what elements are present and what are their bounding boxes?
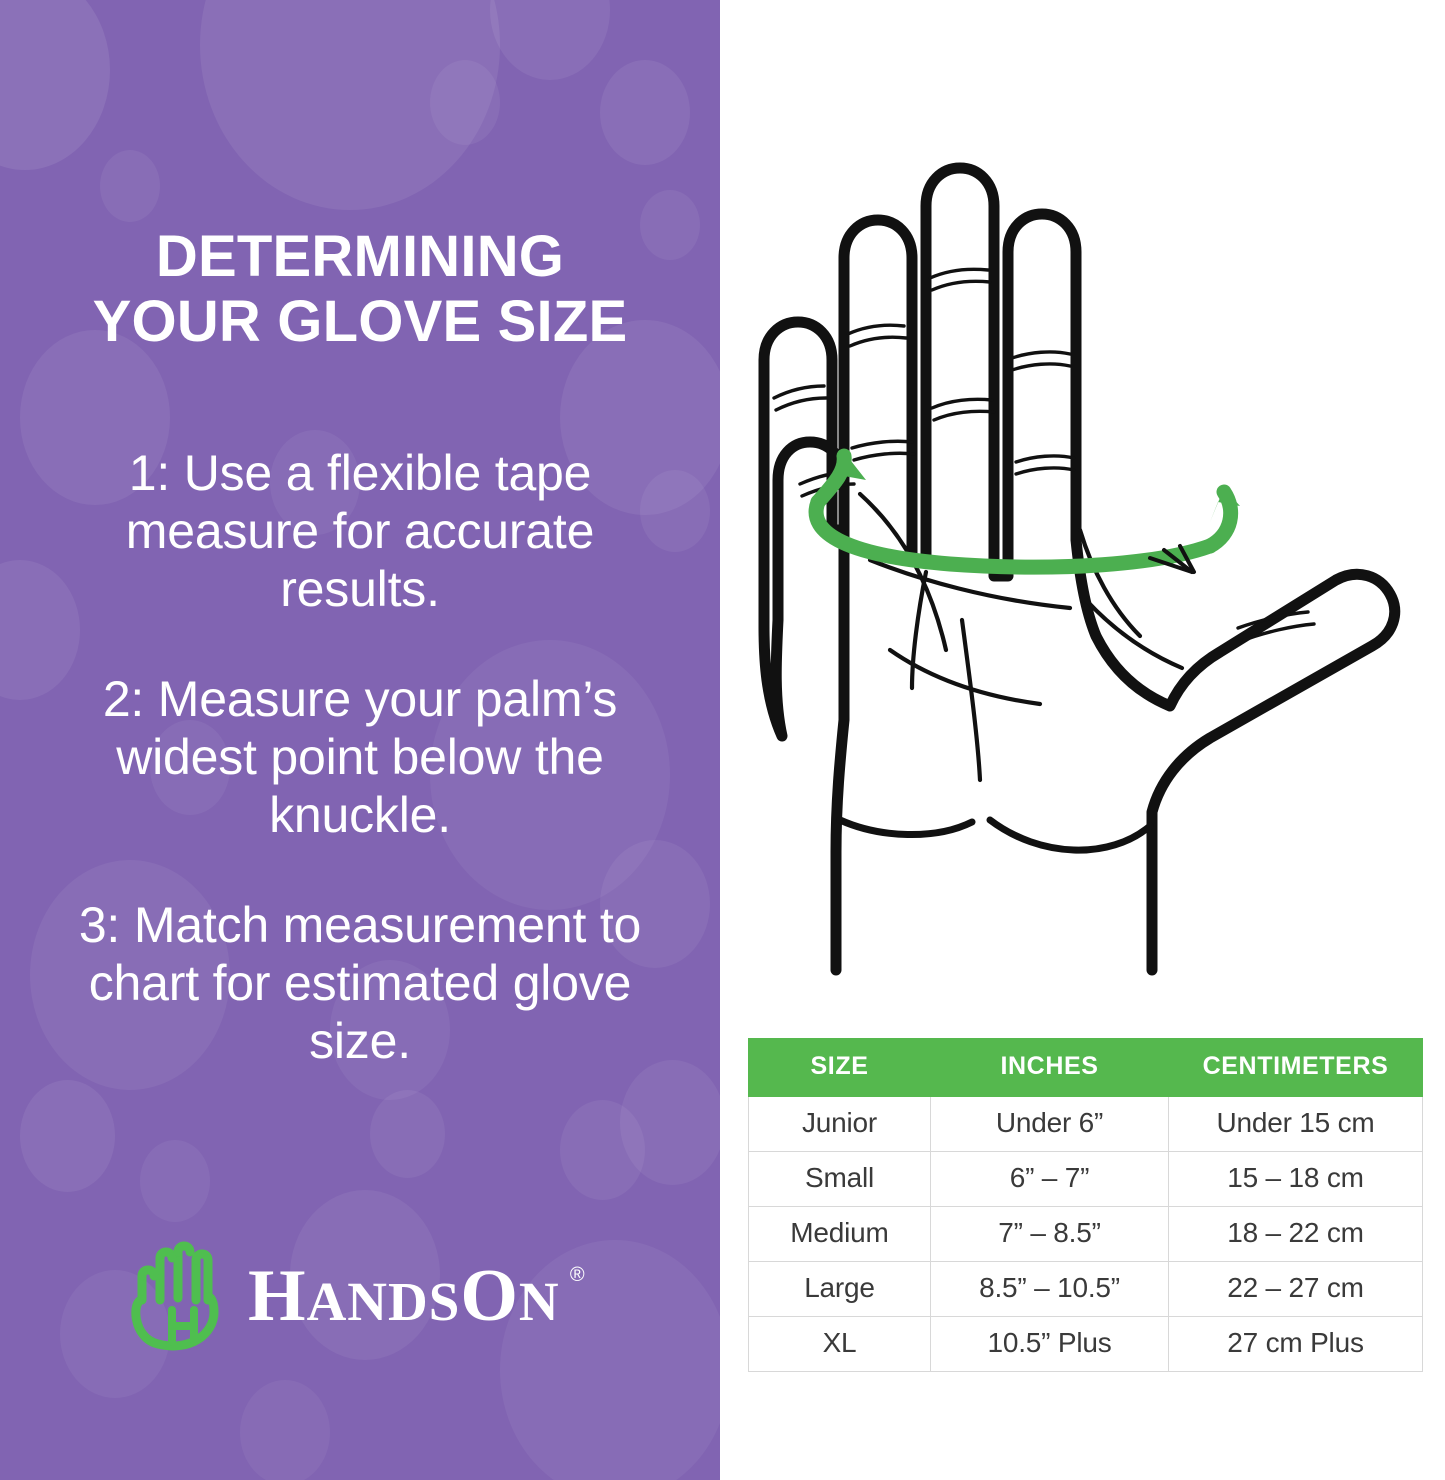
column-header-size: SIZE	[749, 1039, 931, 1097]
page-title: DETERMINING YOUR GLOVE SIZE	[44, 225, 676, 355]
cell-inches: Under 6”	[931, 1097, 1169, 1152]
wordmark-h: H	[248, 1255, 307, 1337]
table-row: Junior Under 6” Under 15 cm	[749, 1097, 1423, 1152]
cell-size: Junior	[749, 1097, 931, 1152]
column-header-inches: INCHES	[931, 1039, 1169, 1097]
instructions-panel: DETERMINING YOUR GLOVE SIZE 1: Use a fle…	[0, 0, 720, 1480]
instruction-step-1: 1: Use a flexible tape measure for accur…	[40, 444, 680, 618]
table-header-row: SIZE INCHES CENTIMETERS	[749, 1039, 1423, 1097]
hand-measurement-illustration	[740, 60, 1440, 990]
brand-logo: HANDSON ®	[128, 1238, 560, 1354]
cell-centimeters: 18 – 22 cm	[1169, 1207, 1423, 1262]
cell-inches: 6” – 7”	[931, 1152, 1169, 1207]
table-row: Large 8.5” – 10.5” 22 – 27 cm	[749, 1262, 1423, 1317]
cell-centimeters: Under 15 cm	[1169, 1097, 1423, 1152]
cell-size: Medium	[749, 1207, 931, 1262]
cell-size: Small	[749, 1152, 931, 1207]
column-header-centimeters: CENTIMETERS	[1169, 1039, 1423, 1097]
brand-wordmark: HANDSON ®	[248, 1259, 560, 1333]
wordmark-n: N	[519, 1271, 560, 1332]
cell-inches: 7” – 8.5”	[931, 1207, 1169, 1262]
table-row: XL 10.5” Plus 27 cm Plus	[749, 1317, 1423, 1372]
cell-centimeters: 27 cm Plus	[1169, 1317, 1423, 1372]
table-row: Medium 7” – 8.5” 18 – 22 cm	[749, 1207, 1423, 1262]
page-title-line-1: DETERMINING	[156, 224, 564, 289]
cell-centimeters: 22 – 27 cm	[1169, 1262, 1423, 1317]
handson-hand-logo-icon	[128, 1238, 232, 1354]
table-row: Small 6” – 7” 15 – 18 cm	[749, 1152, 1423, 1207]
cell-inches: 10.5” Plus	[931, 1317, 1169, 1372]
wordmark-ands: ANDS	[307, 1271, 461, 1332]
registered-trademark-mark: ®	[570, 1265, 586, 1285]
cell-inches: 8.5” – 10.5”	[931, 1262, 1169, 1317]
glove-size-infographic: DETERMINING YOUR GLOVE SIZE 1: Use a fle…	[0, 0, 1445, 1480]
cell-size: Large	[749, 1262, 931, 1317]
cell-centimeters: 15 – 18 cm	[1169, 1152, 1423, 1207]
glove-size-chart-table: SIZE INCHES CENTIMETERS Junior Under 6” …	[748, 1038, 1423, 1372]
instruction-steps-list: 1: Use a flexible tape measure for accur…	[40, 394, 680, 1122]
wordmark-o: O	[460, 1255, 519, 1337]
page-title-line-2: YOUR GLOVE SIZE	[93, 289, 628, 354]
instruction-step-3: 3: Match measurement to chart for estima…	[40, 896, 680, 1070]
illustration-and-chart-panel: SIZE INCHES CENTIMETERS Junior Under 6” …	[720, 0, 1445, 1480]
instruction-step-2: 2: Measure your palm’s widest point belo…	[40, 670, 680, 844]
cell-size: XL	[749, 1317, 931, 1372]
